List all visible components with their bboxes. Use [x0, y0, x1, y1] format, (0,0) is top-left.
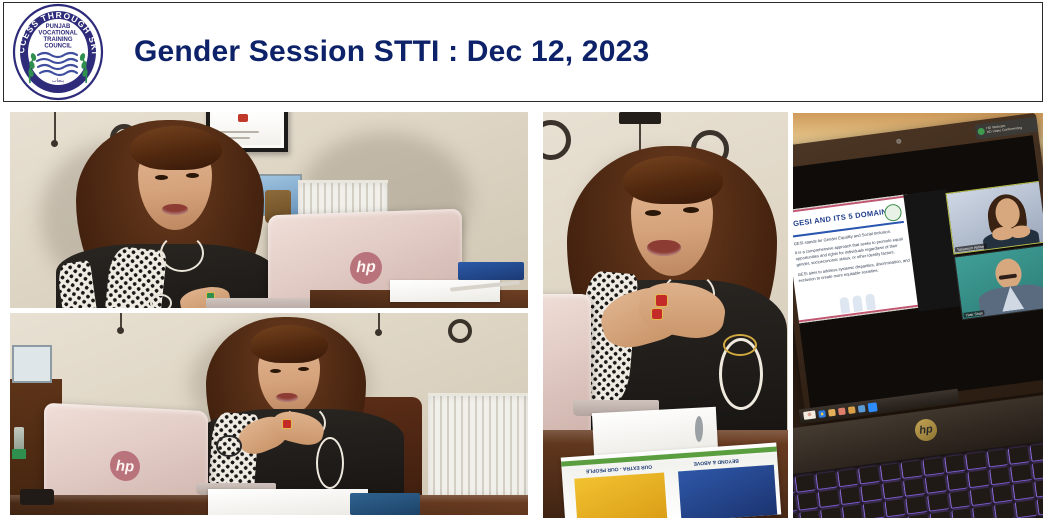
hanging-ornament-icon	[619, 112, 661, 124]
eye	[298, 367, 309, 371]
bracelet-white	[316, 437, 344, 489]
eye	[645, 210, 661, 216]
key[interactable]	[861, 484, 882, 502]
hp-laptop-lid	[543, 294, 591, 442]
photo-presenter-portrait-speaking: OUR EXTRA - OUR PEOPLE BEYOND & ABOVE	[543, 112, 788, 518]
photo-laptop-zoom-session-screen: HD WebcamHD Video Conferencing GESI AND …	[793, 113, 1043, 518]
wall-ring-decor-icon	[448, 319, 472, 343]
key[interactable]	[858, 466, 879, 484]
bracelet	[150, 294, 172, 308]
hanging-ornament-icon	[51, 140, 58, 147]
key[interactable]	[818, 490, 839, 508]
start-flag-icon[interactable]: ❊	[803, 410, 816, 419]
key[interactable]	[903, 478, 924, 496]
scene-portrait: OUR EXTRA - OUR PEOPLE BEYOND & ABOVE	[543, 112, 788, 518]
photo-presenter-at-laptop-closeup: hp	[10, 112, 528, 308]
mouth	[276, 393, 298, 402]
key[interactable]	[991, 485, 1012, 503]
sticker-dot-icon	[977, 128, 985, 136]
hanging-ornament-icon	[375, 329, 382, 336]
eye	[155, 175, 168, 180]
key[interactable]	[970, 488, 991, 506]
key[interactable]	[906, 496, 927, 514]
hair-fringe	[250, 325, 328, 363]
ring-red	[651, 308, 663, 320]
key[interactable]	[1015, 500, 1036, 518]
video-tile-participant[interactable]: Yasir Shah	[954, 244, 1043, 320]
hp-logo-icon: hp	[110, 450, 140, 482]
presentation-slide: GESI AND ITS 5 DOMAINS GESI stands for G…	[793, 194, 922, 323]
key[interactable]	[793, 513, 799, 518]
page-title: Gender Session STTI : Dec 12, 2023	[134, 35, 649, 69]
svg-text:پنجاب: پنجاب	[52, 78, 65, 84]
brochure-headline: OUR EXTRA - OUR PEOPLE	[586, 463, 653, 474]
key[interactable]	[1032, 461, 1043, 479]
mail-icon[interactable]	[858, 404, 866, 412]
laptop-display: GESI AND ITS 5 DOMAINS GESI stands for G…	[793, 135, 1043, 410]
laptop-screen-bezel: HD WebcamHD Video Conferencing GESI AND …	[793, 113, 1043, 423]
key[interactable]	[949, 490, 970, 508]
participant-name-label: Yasir Shah	[963, 310, 985, 318]
webcam-icon	[896, 139, 902, 145]
key[interactable]	[1008, 446, 1029, 464]
photo-presenter-gesturing-wide: hp	[10, 313, 528, 515]
sticker-label: HD WebcamHD Video Conferencing	[986, 122, 1022, 134]
key[interactable]	[1013, 482, 1034, 500]
figure-icon	[852, 295, 863, 312]
key[interactable]	[882, 481, 903, 499]
key[interactable]	[968, 470, 989, 488]
eye	[186, 173, 199, 178]
seal-icon: SUCCESS THROUGH SKILL PUNJAB VOCATIONAL …	[6, 3, 110, 101]
video-tile-presenter[interactable]: Tabassum Akhtar	[945, 180, 1043, 254]
desk-photo-frame	[12, 345, 52, 383]
key[interactable]	[887, 517, 908, 518]
binder-ring-icon	[695, 416, 703, 442]
key[interactable]	[794, 475, 815, 493]
bracelet-gold	[723, 334, 757, 356]
key[interactable]	[908, 514, 929, 518]
key[interactable]	[884, 499, 905, 517]
radiator	[428, 393, 528, 498]
key[interactable]	[820, 507, 841, 518]
bracelet-black	[216, 435, 242, 457]
hanging-ornament-icon	[117, 327, 124, 334]
svg-text:TRAINING: TRAINING	[44, 37, 73, 43]
certificate-text-line	[220, 131, 258, 133]
blue-folders	[458, 262, 524, 280]
key[interactable]	[1034, 479, 1043, 497]
certificate-emblem-icon	[238, 114, 248, 122]
slide-logo-icon	[884, 203, 903, 222]
key[interactable]	[1036, 497, 1043, 515]
key[interactable]	[989, 467, 1010, 485]
svg-text:VOCATIONAL: VOCATIONAL	[38, 31, 78, 37]
blue-folder	[350, 493, 420, 515]
key[interactable]	[972, 506, 993, 518]
key[interactable]	[951, 508, 972, 518]
svg-text:PUNJAB: PUNJAB	[46, 24, 71, 30]
key[interactable]	[927, 493, 948, 511]
hair-fringe	[130, 126, 222, 170]
ring-red	[655, 294, 668, 307]
figure-icon	[865, 293, 876, 310]
key[interactable]	[922, 458, 943, 476]
slide-body-text: GESI stands for Gender Equality and Soci…	[793, 227, 912, 287]
key[interactable]	[929, 511, 950, 518]
key[interactable]	[839, 487, 860, 505]
header-banner: SUCCESS THROUGH SKILL PUNJAB VOCATIONAL …	[3, 2, 1043, 102]
punjab-vocational-training-council-logo: SUCCESS THROUGH SKILL PUNJAB VOCATIONAL …	[6, 3, 110, 101]
key[interactable]	[901, 460, 922, 478]
zoom-icon[interactable]	[868, 402, 878, 412]
key[interactable]	[965, 452, 986, 470]
key[interactable]	[944, 455, 965, 473]
key[interactable]	[815, 472, 836, 490]
hp-logo-icon: hp	[350, 251, 382, 284]
papers-on-desk	[208, 489, 368, 515]
key[interactable]	[987, 449, 1008, 467]
key[interactable]	[796, 492, 817, 510]
store-icon[interactable]	[848, 406, 856, 414]
necklace	[160, 234, 204, 272]
chrome-icon[interactable]	[818, 410, 826, 418]
key[interactable]	[994, 503, 1015, 518]
brochure-photo-right	[678, 465, 777, 518]
cable-adapter	[20, 489, 54, 505]
mouth	[162, 204, 188, 215]
brochure-subline: BEYOND & ABOVE	[693, 457, 739, 466]
key[interactable]	[863, 502, 884, 518]
hair-fringe	[623, 156, 723, 204]
key[interactable]	[925, 475, 946, 493]
key[interactable]	[1029, 444, 1043, 462]
key[interactable]	[799, 510, 820, 518]
key[interactable]	[793, 495, 797, 513]
scene-office-closeup: hp	[10, 112, 528, 308]
participant-name-label: Tabassum Akhtar	[955, 243, 987, 252]
ring-red	[282, 419, 292, 429]
brochure-photo-left	[574, 472, 667, 518]
file-explorer-icon[interactable]	[828, 408, 836, 416]
eye	[270, 369, 281, 373]
key[interactable]	[880, 463, 901, 481]
scene-office-wide: hp	[10, 313, 528, 515]
hanging-rod	[54, 112, 56, 142]
bottle-cap	[12, 449, 26, 459]
scene-laptop: HD WebcamHD Video Conferencing GESI AND …	[793, 113, 1043, 518]
key[interactable]	[946, 473, 967, 491]
photos-icon[interactable]	[838, 407, 846, 415]
svg-text:COUNCIL: COUNCIL	[44, 44, 72, 50]
figure-icon	[839, 297, 850, 314]
key[interactable]	[1010, 464, 1031, 482]
key[interactable]	[842, 505, 863, 518]
key[interactable]	[837, 469, 858, 487]
mouth	[647, 240, 681, 256]
eye	[683, 207, 699, 213]
